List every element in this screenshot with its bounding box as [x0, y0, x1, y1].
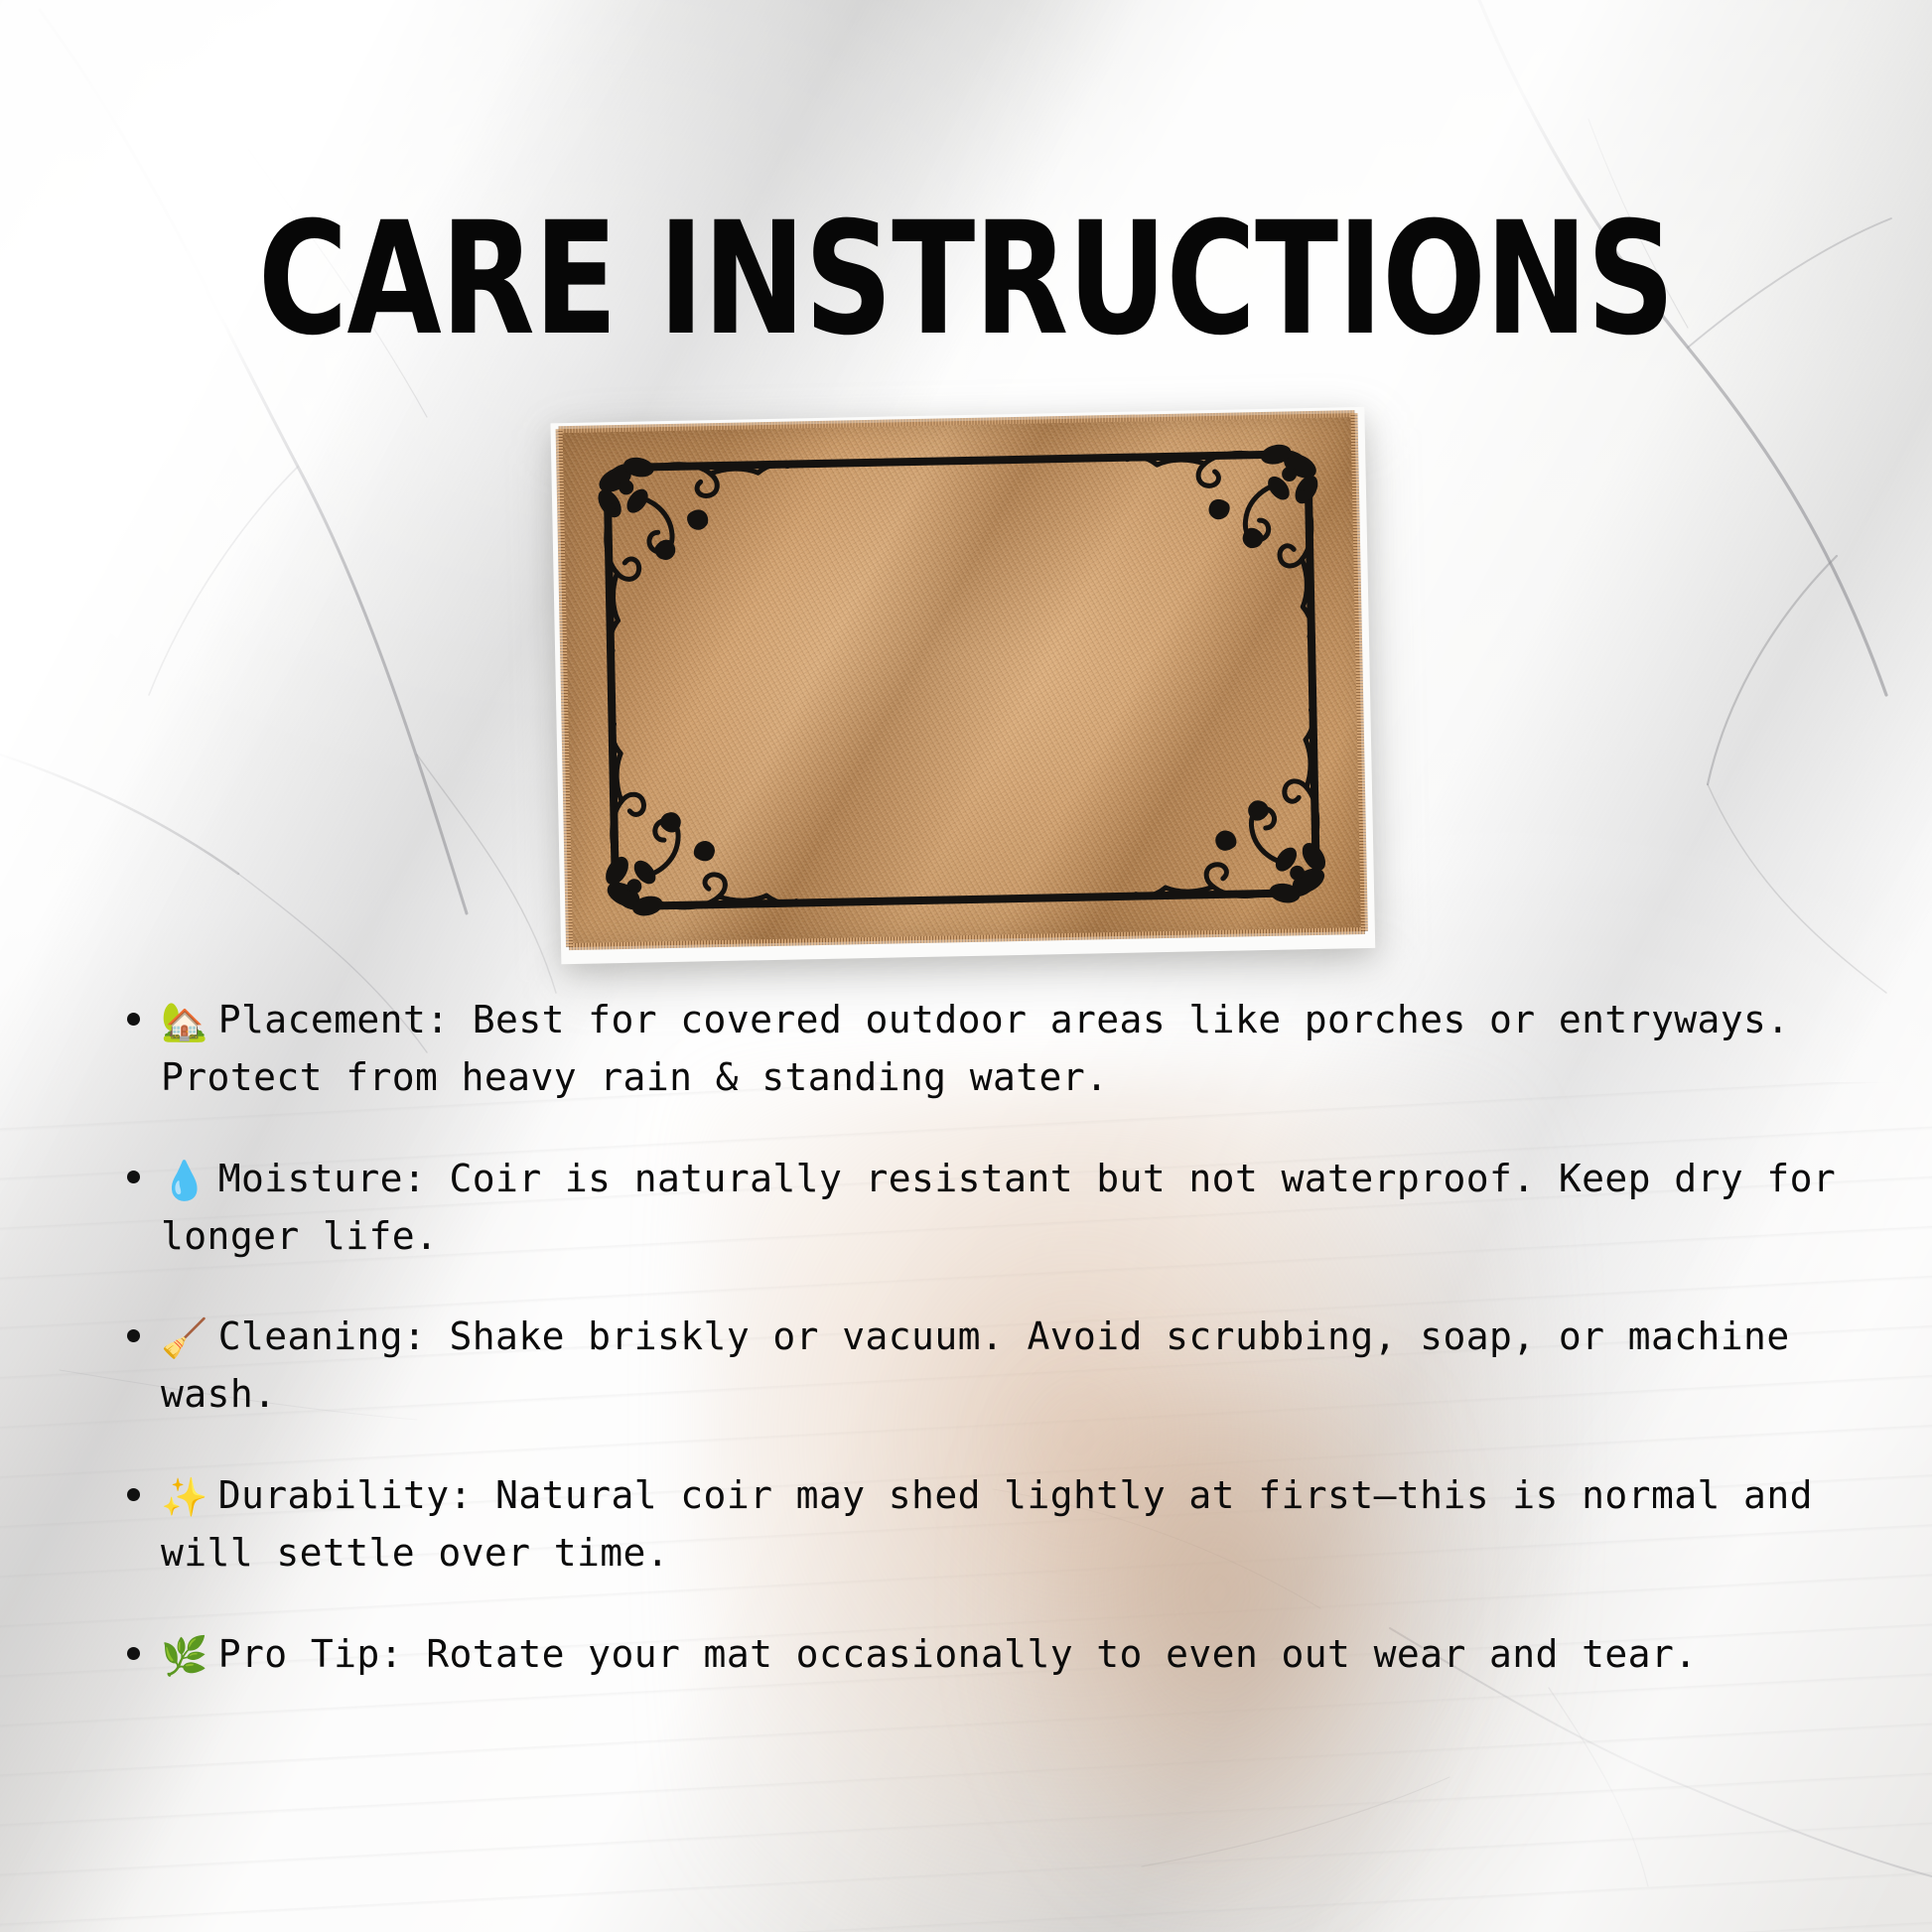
broom-icon: 🧹 — [161, 1316, 208, 1360]
care-item-cleaning: 🧹Cleaning: Shake briskly or vacuum. Avoi… — [119, 1310, 1866, 1423]
herb-icon: 🌿 — [161, 1634, 208, 1678]
house-with-garden-icon: 🏡 — [161, 1000, 208, 1043]
care-instructions-list: 🏡Placement: Best for covered outdoor are… — [119, 993, 1866, 1685]
bullet-dot-icon — [127, 1329, 140, 1342]
doormat-floral-border-design — [559, 413, 1365, 947]
bullet-dot-icon — [127, 1013, 140, 1026]
care-item-text: Pro Tip: Rotate your mat occasionally to… — [218, 1632, 1698, 1676]
care-item-durability: ✨Durability: Natural coir may shed light… — [119, 1468, 1866, 1582]
doormat-surface — [559, 413, 1365, 947]
care-item-moisture: 💧Moisture: Coir is naturally resistant b… — [119, 1152, 1866, 1265]
sparkles-icon: ✨ — [161, 1475, 208, 1519]
care-item-text: Moisture: Coir is naturally resistant bu… — [161, 1157, 1836, 1258]
care-instructions-page: CARE INSTRUCTIONS — [0, 0, 1932, 1932]
droplet-icon: 💧 — [161, 1159, 208, 1202]
bullet-dot-icon — [127, 1171, 140, 1183]
care-item-text: Durability: Natural coir may shed lightl… — [161, 1473, 1813, 1575]
bullet-dot-icon — [127, 1488, 140, 1501]
page-title: CARE INSTRUCTIONS — [116, 203, 1816, 358]
care-item-text: Placement: Best for covered outdoor area… — [161, 998, 1790, 1099]
bullet-dot-icon — [127, 1647, 140, 1660]
doormat-product-image — [556, 415, 1380, 971]
care-item-pro-tip: 🌿Pro Tip: Rotate your mat occasionally t… — [119, 1627, 1866, 1685]
care-item-text: Cleaning: Shake briskly or vacuum. Avoid… — [161, 1314, 1790, 1416]
care-item-placement: 🏡Placement: Best for covered outdoor are… — [119, 993, 1866, 1106]
